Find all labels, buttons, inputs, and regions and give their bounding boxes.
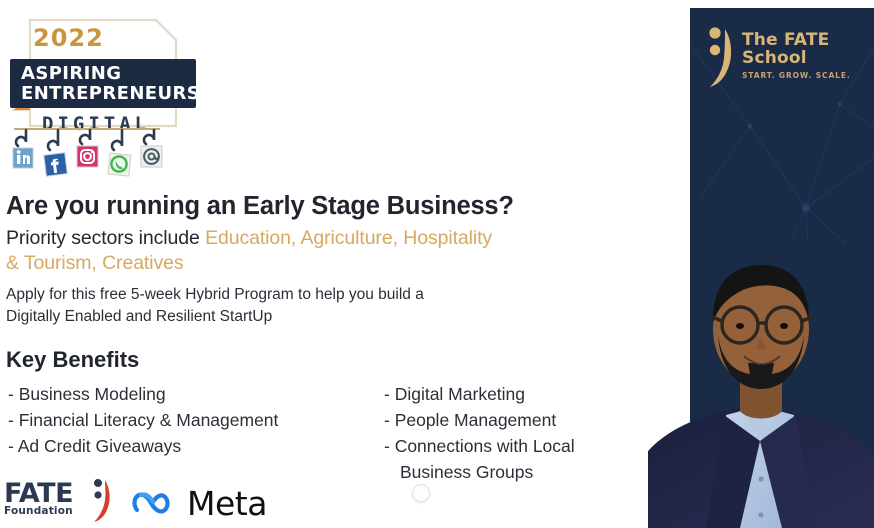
benefit-item: - Ad Credit Giveaways <box>8 434 378 460</box>
benefit-item-main: - Connections with Local <box>384 436 575 456</box>
badge-year: 2022 <box>33 24 104 52</box>
benefit-item: - Digital Marketing <box>384 382 669 408</box>
video-progress-dot[interactable] <box>412 484 430 502</box>
meta-wordmark: Meta <box>187 487 267 520</box>
apply-description: Apply for this free 5-week Hybrid Progra… <box>6 284 606 329</box>
facebook-icon <box>44 153 67 176</box>
sectors-prefix: Priority sectors include <box>6 227 205 249</box>
email-at-icon <box>141 146 162 167</box>
benefit-item: - Business Modeling <box>8 382 378 408</box>
participant-portrait <box>648 243 874 528</box>
linkedin-icon <box>13 148 33 168</box>
instagram-icon <box>77 146 98 167</box>
benefits-column-left: - Business Modeling - Financial Literacy… <box>8 382 378 460</box>
benefit-item: - Financial Literacy & Management <box>8 408 378 434</box>
apply-line2: Digitally Enabled and Resilient StartUp <box>6 306 606 328</box>
key-benefits-title: Key Benefits <box>6 347 139 373</box>
benefit-item: - People Management <box>384 408 669 434</box>
fate-school-logo: The FATE School START. GROW. SCALE. <box>702 26 872 106</box>
whatsapp-icon <box>108 153 131 176</box>
benefit-item: - Connections with Local Business Groups <box>384 434 669 486</box>
badge-line2: ENTREPRENEURS <box>21 85 196 103</box>
partner-logos: FATE Foundation Meta <box>4 478 304 528</box>
sectors-accent-line2: & Tourism, Creatives <box>6 252 184 274</box>
aspiring-entrepreneurs-badge: 2022 ASPIRING ENTREPRENEURS DIGITAL <box>6 18 196 128</box>
priority-sectors-text: Priority sectors include Education, Agri… <box>6 226 626 276</box>
sectors-accent-line1: Education, Agriculture, Hospitality <box>205 227 492 249</box>
badge-title-bar: ASPIRING ENTREPRENEURS <box>10 59 196 108</box>
school-title-line2: School <box>742 50 851 68</box>
poster-canvas: The FATE School START. GROW. SCALE. <box>0 0 874 528</box>
page-headline: Are you running an Early Stage Business? <box>6 192 646 221</box>
badge-line1: ASPIRING <box>21 65 196 83</box>
apply-line1: Apply for this free 5-week Hybrid Progra… <box>6 284 606 306</box>
fate-foundation-logo: FATE Foundation <box>4 480 112 526</box>
meta-infinity-icon <box>132 488 180 518</box>
benefit-item-continuation: Business Groups <box>384 460 669 486</box>
meta-logo: Meta <box>132 487 267 520</box>
fate-figure-mark-icon <box>90 478 112 522</box>
benefits-column-right: - Digital Marketing - People Management … <box>384 382 669 486</box>
school-tagline: START. GROW. SCALE. <box>742 71 851 80</box>
fate-figure-mark-icon <box>702 26 736 88</box>
fate-school-wordmark: The FATE School START. GROW. SCALE. <box>742 26 851 80</box>
hanging-social-icons <box>8 126 168 182</box>
